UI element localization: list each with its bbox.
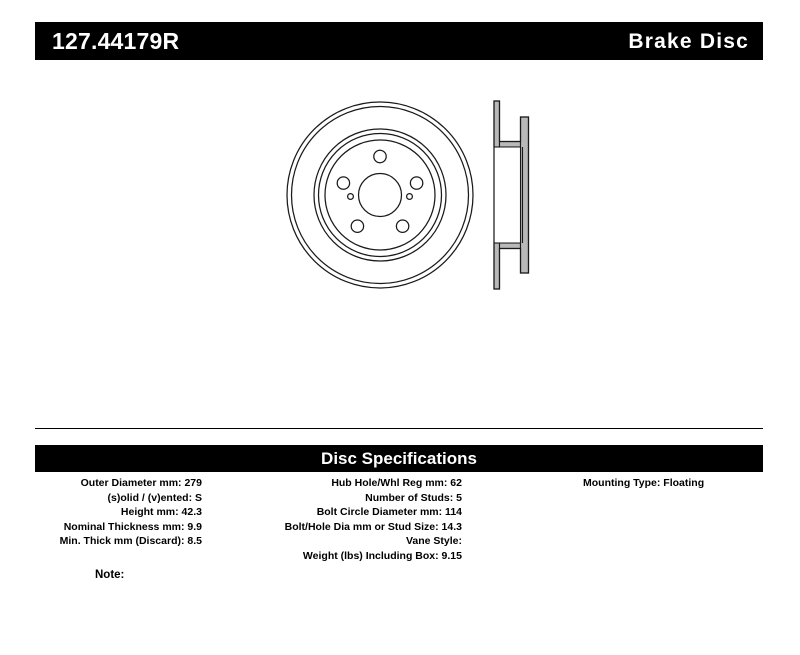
spec-row: Bolt Circle Diameter mm: 114 xyxy=(220,505,462,520)
spec-row: Hub Hole/Whl Reg mm: 62 xyxy=(220,476,462,491)
product-type-label: Brake Disc xyxy=(628,31,749,52)
spec-column-right: Mounting Type: Floating xyxy=(583,476,763,491)
spec-column-middle: Hub Hole/Whl Reg mm: 62 Number of Studs:… xyxy=(220,476,462,564)
disc-specifications-title-bar: Disc Specifications xyxy=(35,445,763,472)
part-number-label: 127.44179R xyxy=(52,30,179,53)
spec-row: (s)olid / (v)ented: S xyxy=(35,491,202,506)
note-label: Note: xyxy=(95,570,124,582)
brake-disc-face-view xyxy=(280,95,480,295)
spec-row: Number of Studs: 5 xyxy=(220,491,462,506)
header-bar: 127.44179R Brake Disc xyxy=(35,22,763,60)
spec-row: Outer Diameter mm: 279 xyxy=(35,476,202,491)
spec-row: Bolt/Hole Dia mm or Stud Size: 14.3 xyxy=(220,520,462,535)
section-divider xyxy=(35,428,763,429)
brake-disc-edge-cross-section-view xyxy=(483,95,543,295)
spec-row-mounting-type: Mounting Type: Floating xyxy=(583,476,763,491)
specifications-columns: Outer Diameter mm: 279 (s)olid / (v)ente… xyxy=(35,476,763,576)
spec-row: Vane Style: xyxy=(220,534,462,549)
disc-specifications-title: Disc Specifications xyxy=(321,450,477,467)
spec-row: Nominal Thickness mm: 9.9 xyxy=(35,520,202,535)
technical-drawing-area xyxy=(35,70,763,420)
spec-row: Min. Thick mm (Discard): 8.5 xyxy=(35,534,202,549)
spec-row: Weight (lbs) Including Box: 9.15 xyxy=(220,549,462,564)
spec-column-left: Outer Diameter mm: 279 (s)olid / (v)ente… xyxy=(35,476,202,549)
spec-row: Height mm: 42.3 xyxy=(35,505,202,520)
